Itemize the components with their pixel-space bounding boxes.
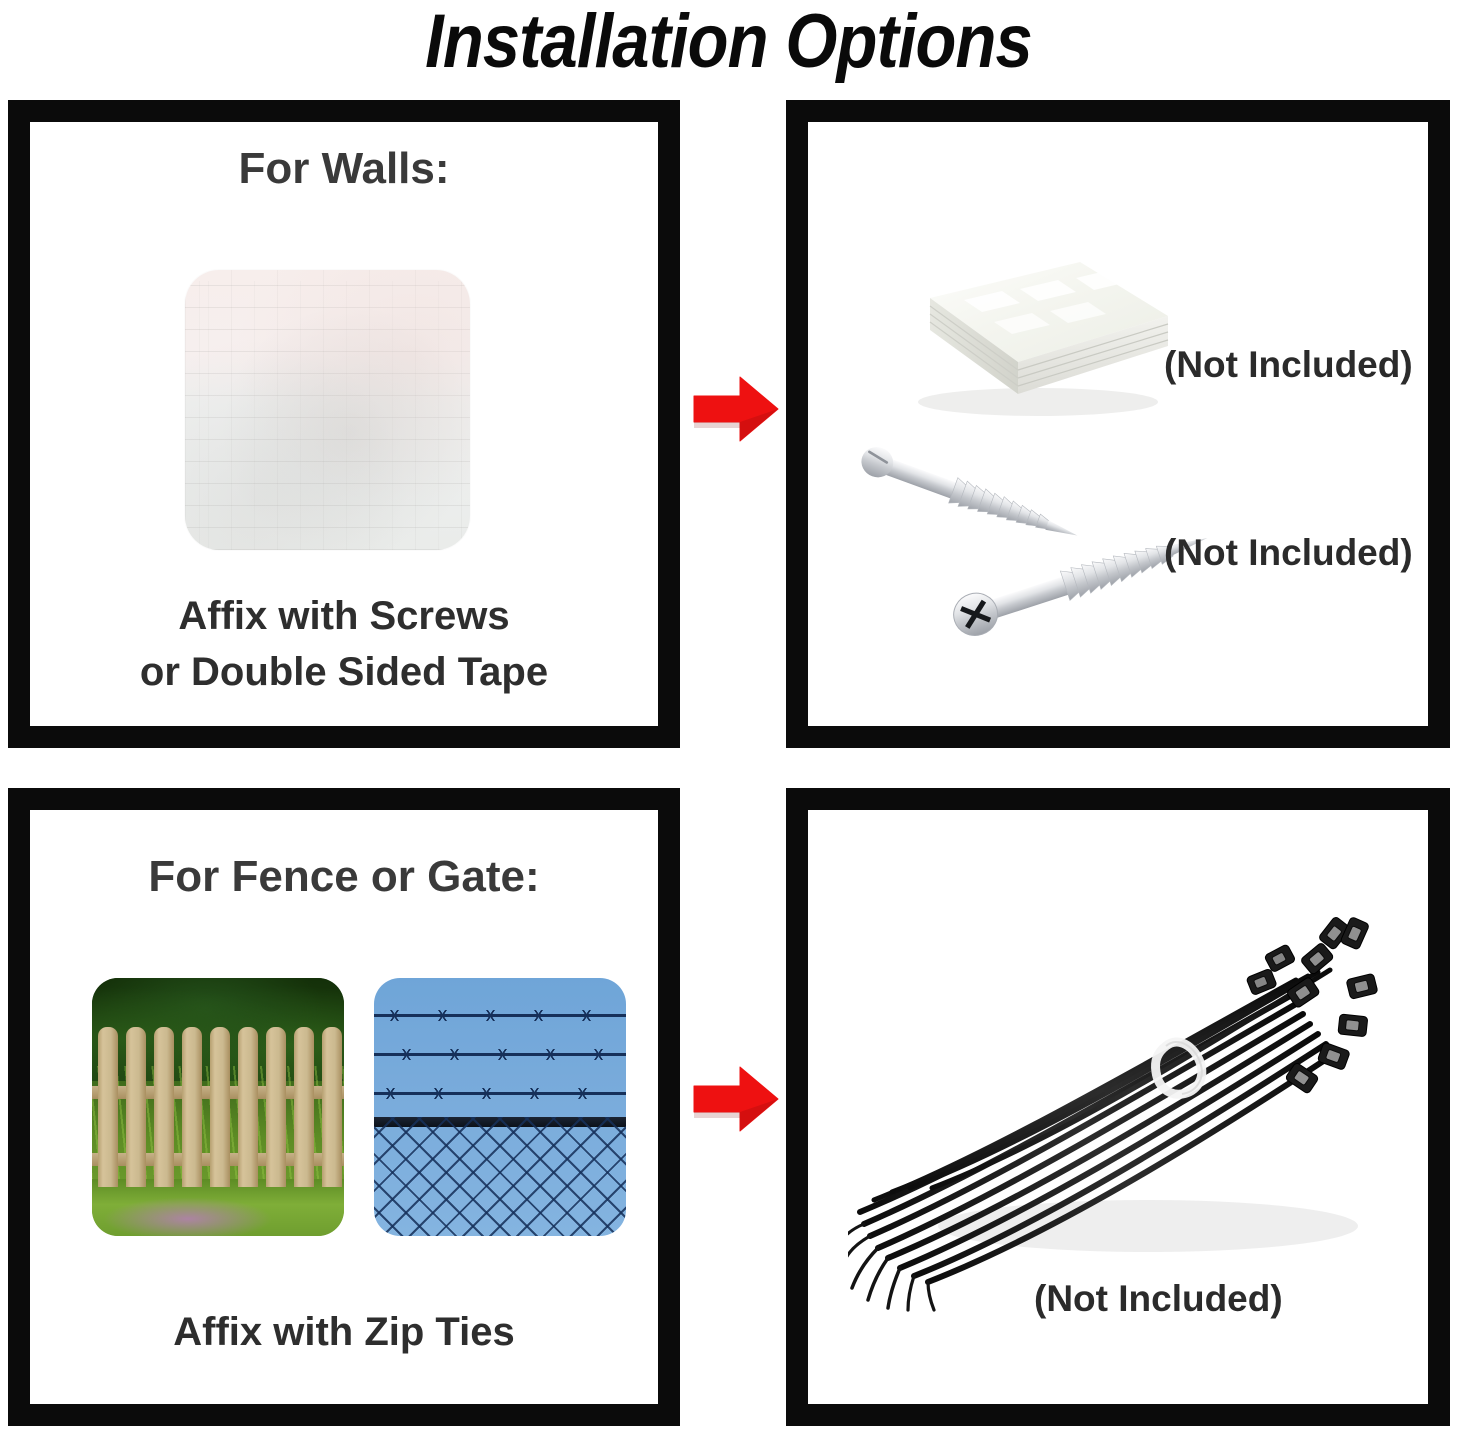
arrow-walls-to-hardware-icon (690, 372, 782, 446)
wooden-picket-fence-photo (92, 978, 344, 1236)
fence-caption: Affix with Zip Ties (30, 1310, 658, 1355)
double-sided-tape-stack (868, 234, 1188, 424)
tape-not-included-label: (Not Included) (1164, 344, 1413, 386)
chain-link-barbed-wire-fence-photo (374, 978, 626, 1236)
panel-zip-ties: (Not Included) (786, 788, 1450, 1426)
walls-caption-line2: or Double Sided Tape (30, 650, 658, 695)
walls-caption-line1: Affix with Screws (30, 594, 658, 639)
screws-not-included-label: (Not Included) (1164, 532, 1413, 574)
page-title: Installation Options (87, 0, 1369, 88)
panel-for-walls: For Walls: Affix with Screws or Double S… (8, 100, 680, 748)
white-brick-wall-photo (185, 270, 470, 550)
panel-for-fence-or-gate: For Fence or Gate: (8, 788, 680, 1426)
for-walls-heading: For Walls: (30, 144, 658, 194)
for-fence-heading: For Fence or Gate: (30, 852, 658, 902)
brick-shading (185, 270, 470, 550)
panel-wall-hardware: (Not Included) (786, 100, 1450, 748)
picket-group (92, 978, 344, 1236)
black-zip-tie-bundle (848, 896, 1388, 1316)
chain-link-mesh (374, 1117, 626, 1236)
arrow-fence-to-zipties-icon (690, 1062, 782, 1136)
zipties-not-included-label: (Not Included) (1034, 1278, 1283, 1320)
